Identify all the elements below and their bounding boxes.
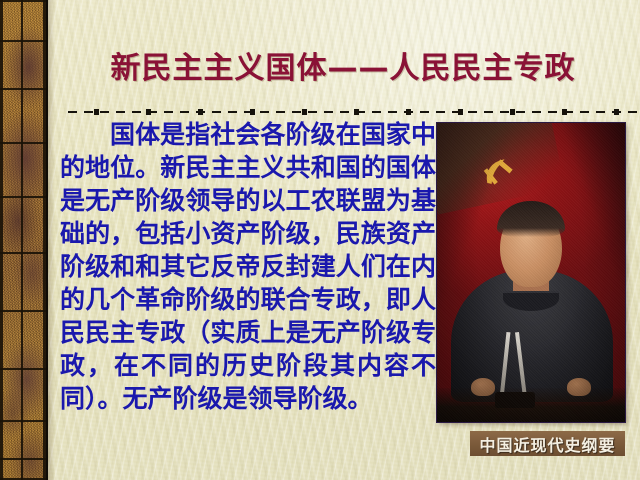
title-separator-rule [68, 109, 640, 115]
band-grid-line-left [0, 0, 3, 480]
band-grid-line-middle [21, 0, 23, 480]
slide-canvas: 新民主主义国体——人民民主专政 国体是指社会各阶级在国家中的地位。新民主主义共和… [0, 0, 640, 480]
slide-title: 新民主主义国体——人民民主专政 [46, 50, 640, 88]
band-grid-line-h [0, 142, 46, 144]
rule-square-dots [68, 109, 640, 115]
band-grid-line-h [0, 368, 46, 370]
course-title-plate: 中国近现代史纲要 [470, 431, 625, 456]
band-grid-line-h [0, 88, 46, 90]
mao-zedong-photo [437, 123, 625, 422]
figure-hand-left [471, 378, 495, 396]
band-grid-line-h [0, 310, 46, 312]
band-grid-line-h [0, 0, 46, 2]
hammer-and-sickle-icon [479, 153, 519, 191]
band-grid-line-h [0, 458, 46, 460]
band-grid-line-h [0, 196, 46, 198]
band-grid-line-h [0, 40, 46, 42]
figure-hand-right [567, 378, 591, 396]
band-grid-line-h [0, 252, 46, 254]
band-grid-line-h [0, 420, 46, 422]
microphone-base [495, 392, 535, 408]
left-decorative-band [0, 0, 46, 480]
slide-body-text: 国体是指社会各阶级在国家中的地位。新民主主义共和国的国体是无产阶级领导的以工农联… [60, 118, 436, 415]
